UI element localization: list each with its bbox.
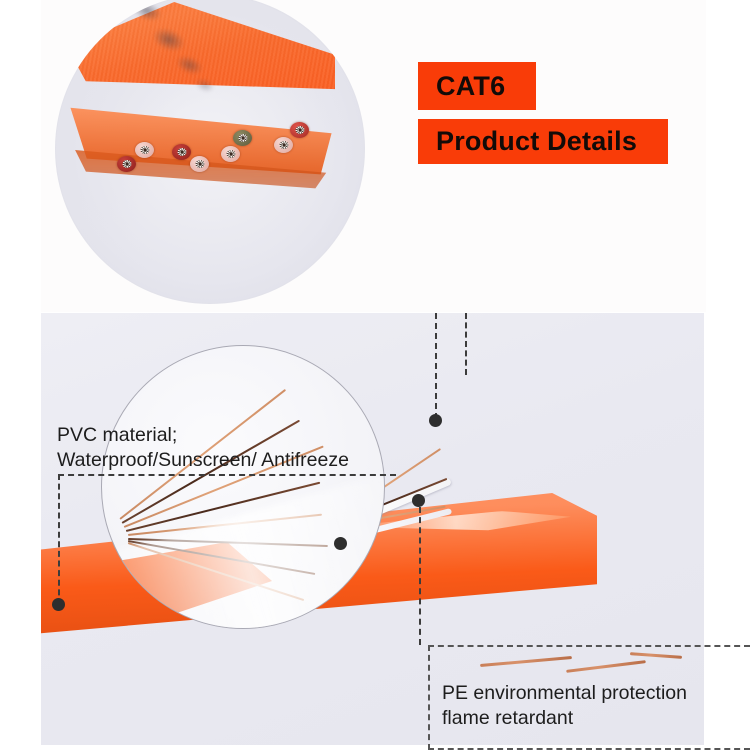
cable-printed-marking: [106, 0, 244, 106]
callout-dot-a: [429, 414, 442, 427]
callout-line-pvc: [58, 474, 60, 605]
callout-dot-pvc: [52, 598, 65, 611]
conductor-1: [117, 156, 136, 172]
badge-product-details-label: Product Details: [436, 126, 637, 157]
callout-line-b: [465, 313, 467, 375]
badge-product-details: Product Details: [418, 119, 668, 164]
conductor-2: [135, 142, 154, 158]
conductor-7: [290, 122, 309, 138]
product-detail-image: CAT6 Product Details: [0, 0, 750, 750]
conductor-4: [190, 156, 209, 172]
badge-cat6-label: CAT6: [436, 71, 505, 102]
conductor-6: [221, 146, 240, 162]
conductor-5: [233, 130, 252, 146]
callout-pe-line2: flame retardant: [442, 706, 750, 731]
callout-pvc-line2: Waterproof/Sunscreen/ Antifreeze: [57, 448, 397, 473]
top-panel: CAT6 Product Details: [41, 0, 706, 312]
magnifier-circle: [101, 345, 385, 629]
callout-dot-pe: [412, 494, 425, 507]
conductor-8: [274, 137, 293, 153]
callout-line-pvc-top: [58, 474, 396, 476]
callout-line-pe: [419, 507, 421, 645]
callout-pvc-line1: PVC material;: [57, 423, 397, 448]
callout-pe: PE environmental protection flame retard…: [428, 645, 750, 750]
conductor-3: [172, 144, 191, 160]
badge-cat6: CAT6: [418, 62, 536, 110]
callout-pvc: PVC material; Waterproof/Sunscreen/ Anti…: [57, 423, 397, 473]
cable-cross-section-photo: [55, 0, 365, 304]
callout-line-a: [435, 313, 437, 419]
callout-dot-split: [334, 537, 347, 550]
callout-pe-line1: PE environmental protection: [442, 681, 750, 706]
